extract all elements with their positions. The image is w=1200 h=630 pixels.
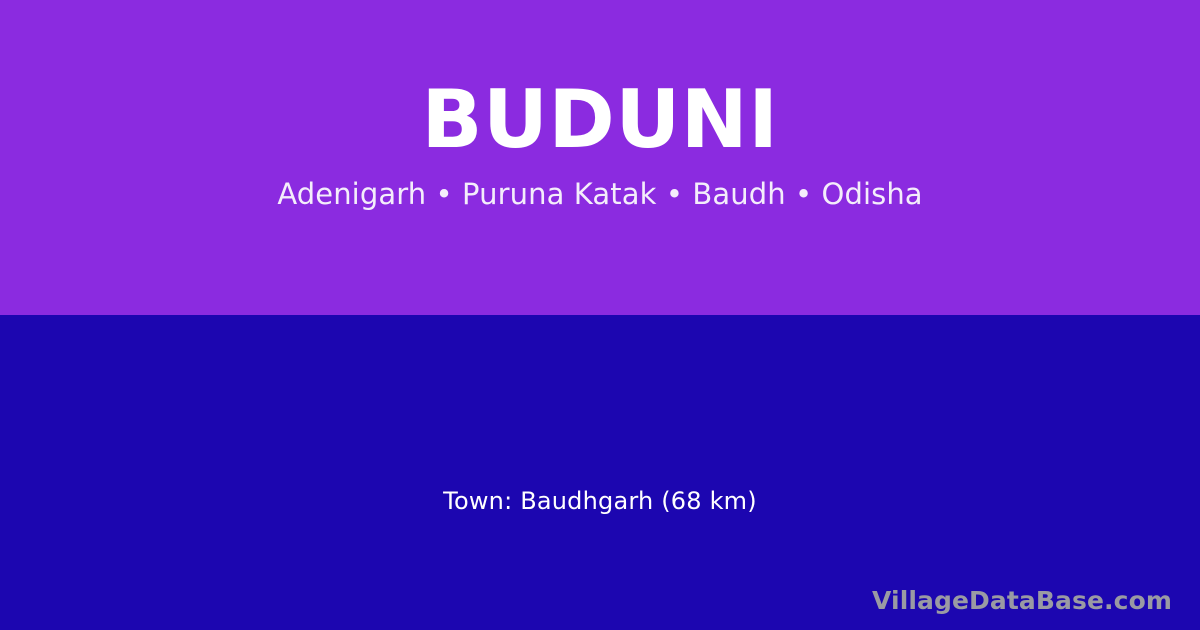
breadcrumb: Adenigarh • Puruna Katak • Baudh • Odish… — [277, 176, 922, 212]
village-info-card: BUDUNI Adenigarh • Puruna Katak • Baudh … — [0, 0, 1200, 630]
page-title: BUDUNI — [421, 78, 778, 162]
card-header-band: BUDUNI Adenigarh • Puruna Katak • Baudh … — [0, 0, 1200, 315]
site-watermark: VillageDataBase.com — [872, 586, 1172, 616]
card-body-band: Town: Baudhgarh (68 km) VillageDataBase.… — [0, 315, 1200, 630]
nearest-town-detail: Town: Baudhgarh (68 km) — [0, 485, 1200, 517]
